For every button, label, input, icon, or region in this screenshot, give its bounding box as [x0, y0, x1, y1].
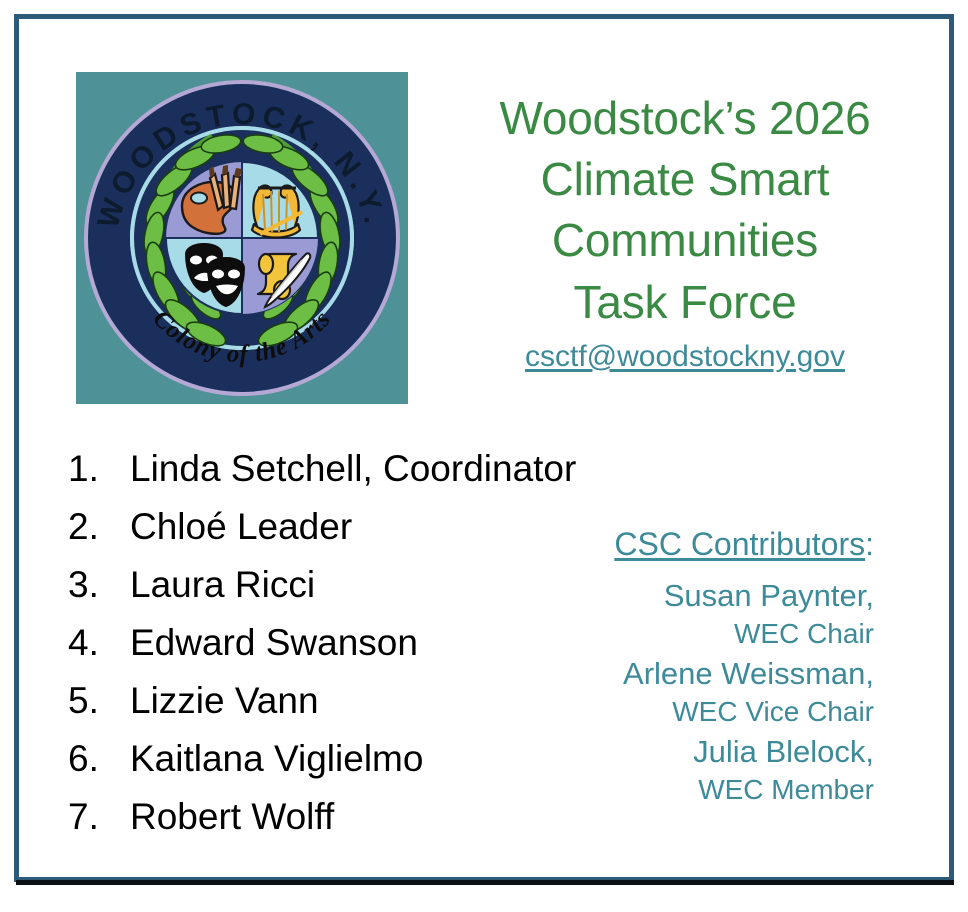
- woodstock-ny-seal-icon: WOODSTOCK, N.Y.: [82, 78, 402, 398]
- list-item-label: Lizzie Vann: [130, 672, 538, 730]
- list-item: 5. Lizzie Vann: [68, 672, 538, 730]
- list-item-number: 2.: [68, 498, 130, 556]
- list-item: 4. Edward Swanson: [68, 614, 538, 672]
- list-item-label: Laura Ricci: [130, 556, 538, 614]
- town-seal-logo: WOODSTOCK, N.Y.: [76, 72, 408, 404]
- list-item-number: 4.: [68, 614, 130, 672]
- title-line-4: Task Force: [432, 272, 938, 333]
- contributors-heading-text: CSC Contributors: [614, 526, 865, 562]
- contributor-name: Susan Paynter,: [534, 576, 874, 616]
- contributor-name: Arlene Weissman,: [534, 654, 874, 694]
- slide-canvas: WOODSTOCK, N.Y.: [0, 0, 968, 912]
- list-item: 2. Chloé Leader: [68, 498, 538, 556]
- title-line-2: Climate Smart: [432, 149, 938, 210]
- list-item-number: 6.: [68, 730, 130, 788]
- list-item-number: 3.: [68, 556, 130, 614]
- list-item-number: 1.: [68, 440, 130, 498]
- slide-bottom-edge: [16, 880, 954, 885]
- contributor-role: WEC Vice Chair: [534, 694, 874, 730]
- list-item: 6. Kaitlana Viglielmo: [68, 730, 538, 788]
- list-item-number: 5.: [68, 672, 130, 730]
- list-item-label: Robert Wolff: [130, 788, 538, 846]
- contributors-heading-colon: :: [865, 526, 874, 562]
- list-item: 7. Robert Wolff: [68, 788, 538, 846]
- list-item-number: 7.: [68, 788, 130, 846]
- list-item: 3. Laura Ricci: [68, 556, 538, 614]
- list-item-label: Linda Setchell, Coordinator: [130, 440, 576, 498]
- list-item: 1. Linda Setchell, Coordinator: [68, 440, 538, 498]
- contributors-heading: CSC Contributors:: [534, 524, 874, 564]
- contributor-role: WEC Chair: [534, 616, 874, 652]
- title-line-1: Woodstock’s 2026: [432, 88, 938, 149]
- task-force-member-list: 1. Linda Setchell, Coordinator 2. Chloé …: [68, 440, 538, 847]
- contributor-role: WEC Member: [534, 772, 874, 808]
- contact-email-link[interactable]: csctf@woodstockny.gov: [525, 339, 845, 375]
- contributor-name: Julia Blelock,: [534, 732, 874, 772]
- list-item-label: Edward Swanson: [130, 614, 538, 672]
- list-item-label: Chloé Leader: [130, 498, 538, 556]
- csc-contributors-block: CSC Contributors: Susan Paynter, WEC Cha…: [534, 524, 874, 810]
- list-item-label: Kaitlana Viglielmo: [130, 730, 538, 788]
- title-block: Woodstock’s 2026 Climate Smart Communiti…: [432, 88, 938, 375]
- title-line-3: Communities: [432, 210, 938, 271]
